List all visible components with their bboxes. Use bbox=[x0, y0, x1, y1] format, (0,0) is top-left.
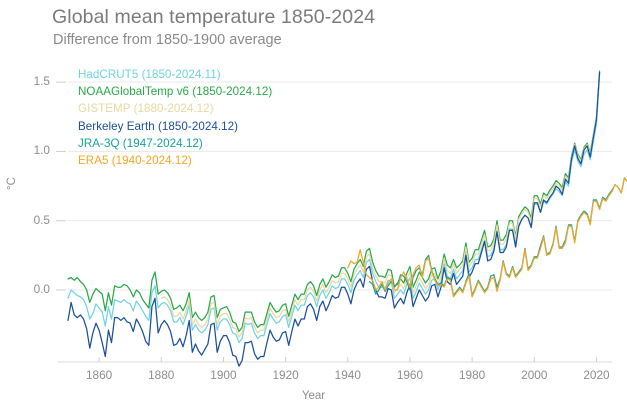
series-line-1 bbox=[68, 71, 600, 331]
series-line-3 bbox=[68, 72, 600, 366]
series-line-0 bbox=[68, 74, 600, 343]
series-line-4 bbox=[370, 75, 627, 295]
chart-figure: Global mean temperature 1850-2024 Differ… bbox=[0, 0, 627, 412]
series-line-5 bbox=[348, 71, 627, 297]
chart-plot-area bbox=[0, 0, 627, 412]
